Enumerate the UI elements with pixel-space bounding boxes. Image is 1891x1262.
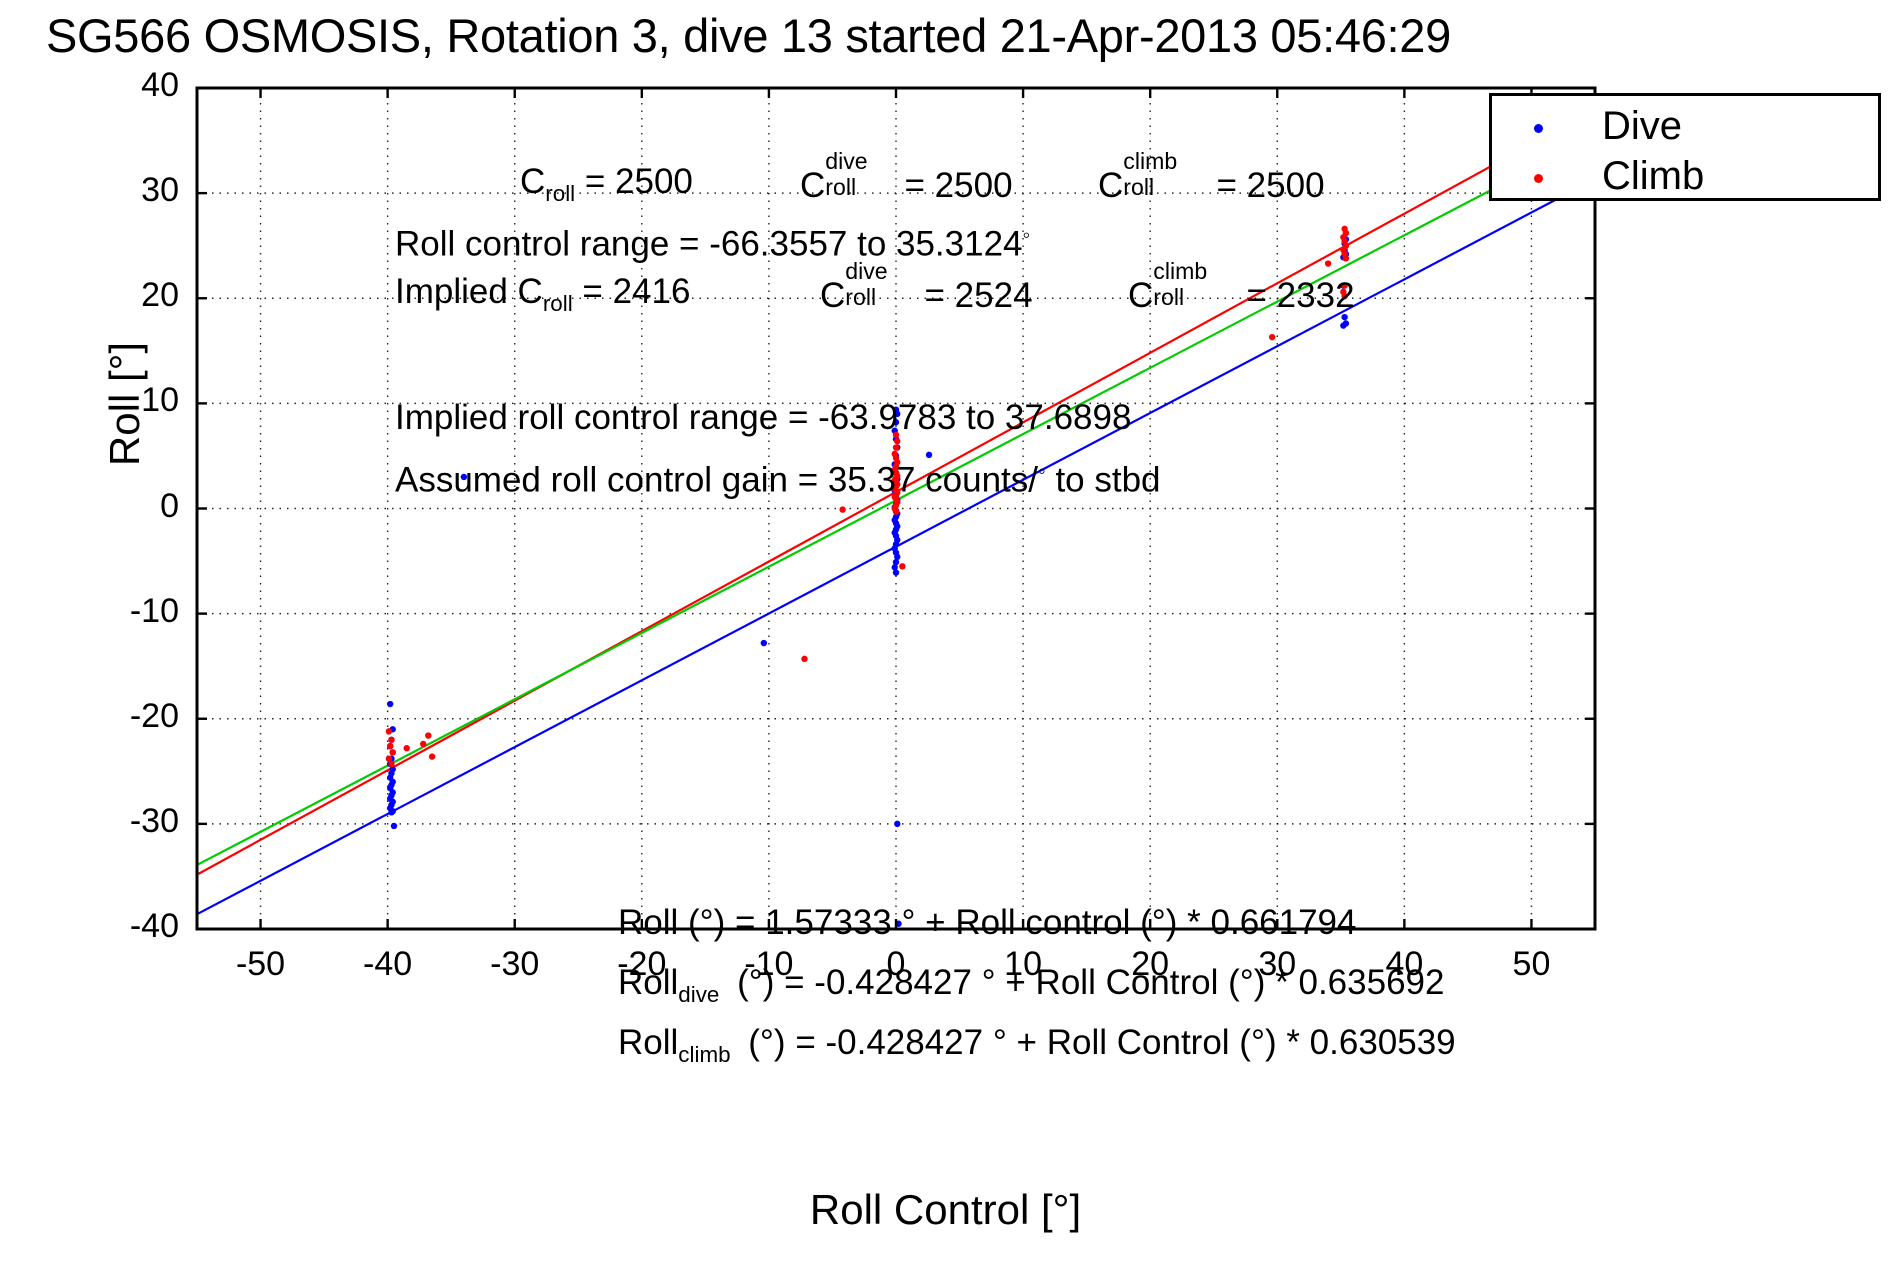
c-roll-value: = 2500 [585, 162, 693, 201]
degree-symbol-icon-2: ◦ [1038, 458, 1046, 483]
legend-marker-climb [1534, 174, 1543, 183]
x-tick-label: -30 [455, 945, 575, 984]
x-tick-label: -40 [328, 945, 448, 984]
x-tick-label: 40 [1344, 945, 1464, 984]
annotation-assumed-gain: Assumed roll control gain = 35.37 counts… [395, 458, 1161, 500]
c-roll-climb-script: climbroll [1123, 162, 1169, 197]
x-tick-label: 0 [836, 945, 956, 984]
y-tick-label: -10 [57, 592, 179, 631]
y-tick-label: 20 [57, 276, 179, 315]
x-axis-label-wrapper: Roll Control [°] [0, 1186, 1891, 1234]
annotation-implied-c-roll: Implied Croll = 2416 [395, 272, 690, 312]
legend-label-dive: Dive [1602, 104, 1682, 149]
figure-canvas: SG566 OSMOSIS, Rotation 3, dive 13 start… [0, 0, 1891, 1262]
implied-c-roll-dive-script: diveroll [845, 272, 891, 307]
equation-climb-prefix: Roll [618, 1023, 678, 1062]
implied-c-roll-climb-subscript: roll [1153, 284, 1184, 311]
implied-c-roll-dive-value: = 2524 [925, 276, 1033, 315]
implied-c-roll-dive-subscript: roll [845, 284, 876, 311]
implied-prefix: Implied C [395, 272, 543, 311]
c-roll-symbol: C [520, 162, 545, 201]
equation-dive-subscript: dive [678, 982, 719, 1007]
x-tick-label: 10 [963, 945, 1083, 984]
equation-all: Roll (°) = 1.57333 ° + Roll control (°) … [618, 903, 1357, 943]
y-tick-label: -30 [57, 802, 179, 841]
c-roll-climb-subscript: roll [1123, 174, 1154, 201]
annotation-implied-c-roll-dive: Cdiveroll = 2524 [820, 272, 1033, 316]
implied-c-roll-dive-superscript: dive [845, 258, 887, 285]
implied-c-roll-climb-superscript: climb [1153, 258, 1207, 285]
y-tick-label: -40 [57, 907, 179, 946]
implied-c-roll-value: = 2416 [582, 272, 690, 311]
annotation-roll-control-range: Roll control range = -66.3557 to 35.3124… [395, 222, 1030, 264]
x-tick-label: 50 [1471, 945, 1591, 984]
x-tick-label: 20 [1090, 945, 1210, 984]
y-tick-label: 0 [57, 487, 179, 526]
c-roll-subscript: roll [545, 181, 575, 206]
y-tick-label: 40 [57, 66, 179, 105]
degree-symbol-icon: ◦ [1023, 222, 1031, 247]
implied-c-roll-climb-script: climbroll [1153, 272, 1199, 307]
annotation-implied-c-roll-climb: Cclimbroll = 2332 [1128, 272, 1355, 316]
implied-c-roll-climb-value: = 2332 [1247, 276, 1355, 315]
y-tick-label: 10 [57, 381, 179, 420]
implied-c-roll-climb-symbol: C [1128, 276, 1153, 315]
c-roll-climb-superscript: climb [1123, 148, 1177, 175]
x-tick-label: -10 [709, 945, 829, 984]
c-roll-dive-subscript: roll [825, 174, 856, 201]
assumed-gain-text: Assumed roll control gain = 35.37 counts… [395, 460, 1038, 499]
annotation-c-roll-dive: Cdiveroll = 2500 [800, 162, 1013, 206]
annotation-c-roll: Croll = 2500 [520, 162, 693, 202]
equation-climb-subscript: climb [678, 1042, 730, 1067]
y-tick-label: 30 [57, 171, 179, 210]
implied-c-roll-subscript: roll [543, 291, 573, 316]
legend-label-climb: Climb [1602, 154, 1704, 199]
legend-item-climb[interactable]: Climb [1492, 150, 1878, 200]
legend-item-dive[interactable]: Dive [1492, 100, 1878, 150]
annotation-implied-roll-control-range: Implied roll control range = -63.9783 to… [395, 398, 1131, 438]
roll-control-range-text: Roll control range = -66.3557 to 35.3124 [395, 224, 1023, 263]
annotation-c-roll-climb: Cclimbroll = 2500 [1098, 162, 1325, 206]
legend: Dive Climb [1489, 93, 1881, 201]
implied-c-roll-dive-symbol: C [820, 276, 845, 315]
c-roll-dive-superscript: dive [825, 148, 867, 175]
x-tick-label: -20 [582, 945, 702, 984]
c-roll-dive-symbol: C [800, 166, 825, 205]
equation-climb: Rollclimb (°) = -0.428427 ° + Roll Contr… [618, 1023, 1456, 1063]
equation-all-text: Roll (°) = 1.57333 ° + Roll control (°) … [618, 903, 1357, 942]
c-roll-dive-script: diveroll [825, 162, 871, 197]
assumed-gain-tail: to stbd [1046, 460, 1161, 499]
c-roll-climb-value: = 2500 [1217, 166, 1325, 205]
legend-marker-dive [1534, 124, 1543, 133]
c-roll-climb-symbol: C [1098, 166, 1123, 205]
c-roll-dive-value: = 2500 [905, 166, 1013, 205]
x-tick-label: -50 [201, 945, 321, 984]
x-tick-label: 30 [1217, 945, 1337, 984]
implied-roll-control-range-text: Implied roll control range = -63.9783 to… [395, 398, 1131, 437]
y-tick-label: -20 [57, 697, 179, 736]
equation-climb-body: (°) = -0.428427 ° + Roll Control (°) * 0… [748, 1023, 1455, 1062]
x-axis-label: Roll Control [°] [810, 1186, 1081, 1233]
